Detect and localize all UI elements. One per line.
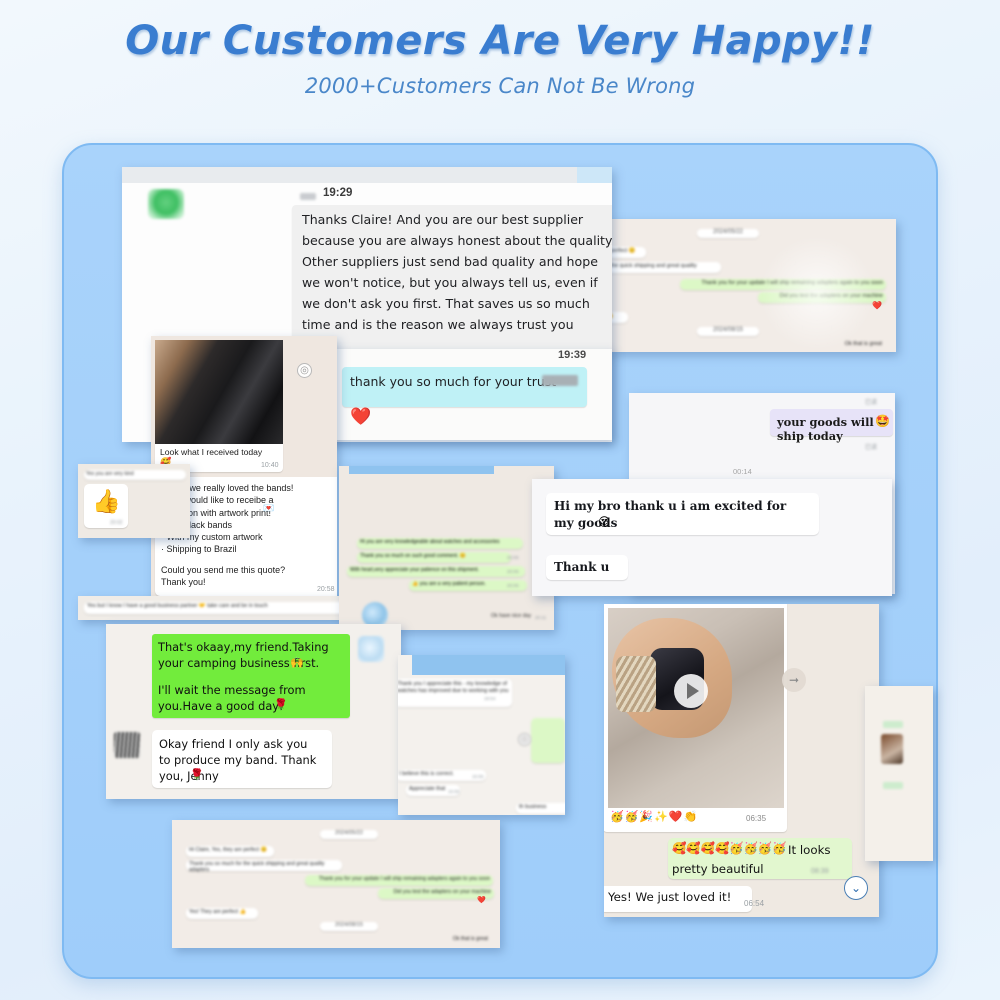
chat-line-outgoing: Thank you for your update I will ship re… (305, 875, 493, 886)
chat-line: Thank you so much for the quick shipping… (186, 860, 342, 871)
chat-timestamp: 20:06 (507, 583, 519, 588)
heart-reaction: ❤️ (350, 407, 371, 427)
incoming-text: Yes! We just loved it! (608, 890, 731, 904)
chat-timestamp: 20:06 (507, 555, 519, 560)
chat-line: Yes! They are perfect 👍 (186, 908, 258, 919)
chat-line-outgoing: Ok that is great (430, 936, 488, 942)
play-button-icon[interactable] (674, 674, 708, 708)
outgoing-timestamp: 08:39 (811, 868, 829, 875)
bracelet-band (616, 656, 656, 712)
sender-name (300, 193, 316, 200)
read-badge: 已读 (865, 442, 877, 451)
redacted-name (542, 375, 578, 386)
chat-timestamp: 20:06 (507, 569, 519, 574)
excited-goods-card[interactable]: Hi my bro thank u i am excited for my go… (532, 479, 892, 596)
quotation-timestamp: 20:58 (317, 586, 335, 593)
thumbs-up-card[interactable]: Yes you are very kind 👍 20:02 (78, 464, 190, 538)
chat-timestamp: 18:54 (484, 696, 496, 701)
rose-emoji: 🌹 (190, 768, 204, 781)
chat-footer-timestamp: 20:11 (535, 615, 546, 620)
smiling-emoji: 😍 (598, 515, 611, 529)
heart-icon: ❤️ (477, 896, 486, 904)
chat-line: Thank you so much on such good comment. … (357, 552, 511, 563)
incoming-text-1: Hi my bro thank u i am excited for my go… (554, 498, 804, 532)
chat-timestamp: 15:55 (448, 789, 460, 794)
avatar (148, 189, 184, 219)
kiss-emoji: 💌 (263, 504, 274, 514)
quotation-bullet: · Shipping to Brazil (161, 544, 237, 554)
incoming-timestamp: 06:54 (744, 899, 764, 908)
date-divider: 2024/05/22 (320, 830, 378, 839)
date-divider: 2024/08/15 (697, 327, 759, 336)
rose-emoji: 🌹 (274, 698, 288, 711)
thumbs-up-timestamp: 20:02 (110, 520, 123, 526)
emoji-icon[interactable]: ◎ (518, 733, 531, 746)
incoming-text-2: Thank u (554, 560, 609, 574)
chat-topbar (122, 167, 612, 183)
adapters-chat-card-bottom[interactable]: 2024/05/22 Hi Claire, Yes, they are perf… (172, 820, 500, 948)
photo-caption-text: Look what I received today (160, 447, 262, 457)
chat-footer-line: Ok have nice day (491, 613, 531, 619)
thumbs-up-icon: 👍 (92, 488, 121, 515)
kind-line: Yes you are very kind (84, 470, 186, 480)
partner-line: Yes but I know I have a good business pa… (84, 602, 358, 614)
chat-line: th business (516, 803, 565, 814)
avatar (114, 732, 140, 758)
video-timestamp: 06:35 (746, 814, 766, 823)
chat-topbar-accent (349, 466, 494, 474)
date-divider: 2024/08/15 (320, 922, 378, 931)
chat-topbar-accent (412, 655, 565, 675)
chat-timestamp: 15:55 (472, 774, 484, 779)
outgoing-text-1: That's okaay,my friend.Taking your campi… (158, 639, 344, 671)
decor-watermark (752, 237, 882, 349)
raised-hands-emoji: 🙌 (290, 656, 304, 669)
chat-line: Thank you I appreciate this - my knowled… (398, 679, 512, 707)
chat-line: Hi Claire, Yes, they are perfect 😊 (186, 846, 274, 857)
message-timestamp: 19:29 (323, 187, 352, 199)
thank-you-trust-card[interactable]: thank you so much for your trust ❤️ 19:3… (306, 349, 612, 440)
incoming-text: Okay friend I only ask you to produce my… (159, 736, 322, 784)
watch-knowledge-card[interactable]: Thank you I appreciate this - my knowled… (398, 655, 565, 815)
smiling-emoji: 🤩 (875, 414, 890, 428)
photo-timestamp: 10:40 (261, 462, 279, 469)
trust-message-text: thank you so much for your trust (350, 374, 556, 389)
read-tick-icon (883, 721, 903, 728)
quotation-tail: Could you send me this quote? Thank you! (161, 564, 296, 589)
video-reactions: 🥳🥳🎉✨❤️👏 (610, 810, 698, 823)
scroll-to-bottom-icon[interactable]: ⌄ (844, 876, 868, 900)
camping-business-card[interactable]: That's okaay,my friend.Taking your campi… (106, 624, 401, 799)
read-tick-icon (883, 782, 903, 789)
business-partner-strip[interactable]: Yes but I know I have a good business pa… (78, 596, 368, 620)
knowledgeable-comment-card[interactable]: Hi you are very knowledgeable about watc… (339, 466, 554, 630)
outgoing-strip (531, 718, 565, 763)
sticker-icon (358, 636, 384, 662)
chat-line: With heart,very appreciate your patience… (347, 566, 525, 577)
chat-topbar-accent (577, 167, 612, 183)
collage-stage: 2024/05/22 Hi Claire, Yes, they are perf… (0, 0, 1000, 1000)
forward-icon[interactable]: ➞ (782, 668, 806, 692)
received-bands-photo[interactable] (155, 340, 283, 444)
read-badge: 已读 (865, 397, 877, 406)
time-divider: 00:14 (733, 467, 752, 476)
right-edge-chat-card[interactable] (865, 686, 933, 861)
date-divider: 2024/05/22 (697, 229, 759, 238)
outgoing-text-2: I'll wait the message from you.Have a go… (158, 682, 323, 714)
thumbnail-icon (881, 734, 903, 764)
message-text: Thanks Claire! And you are our best supp… (302, 209, 612, 335)
chat-line: Hi you are very knowledgeable about watc… (357, 538, 523, 549)
reply-timestamp: 19:39 (558, 349, 586, 361)
watch-video-review-card[interactable]: 🥳🥳🎉✨❤️👏 06:35 ➞ 🥰🥰🥰🥰🥳🥳🥳🥳 It looks pretty… (604, 604, 879, 917)
scroll-down-icon[interactable]: ◎ (297, 363, 312, 378)
